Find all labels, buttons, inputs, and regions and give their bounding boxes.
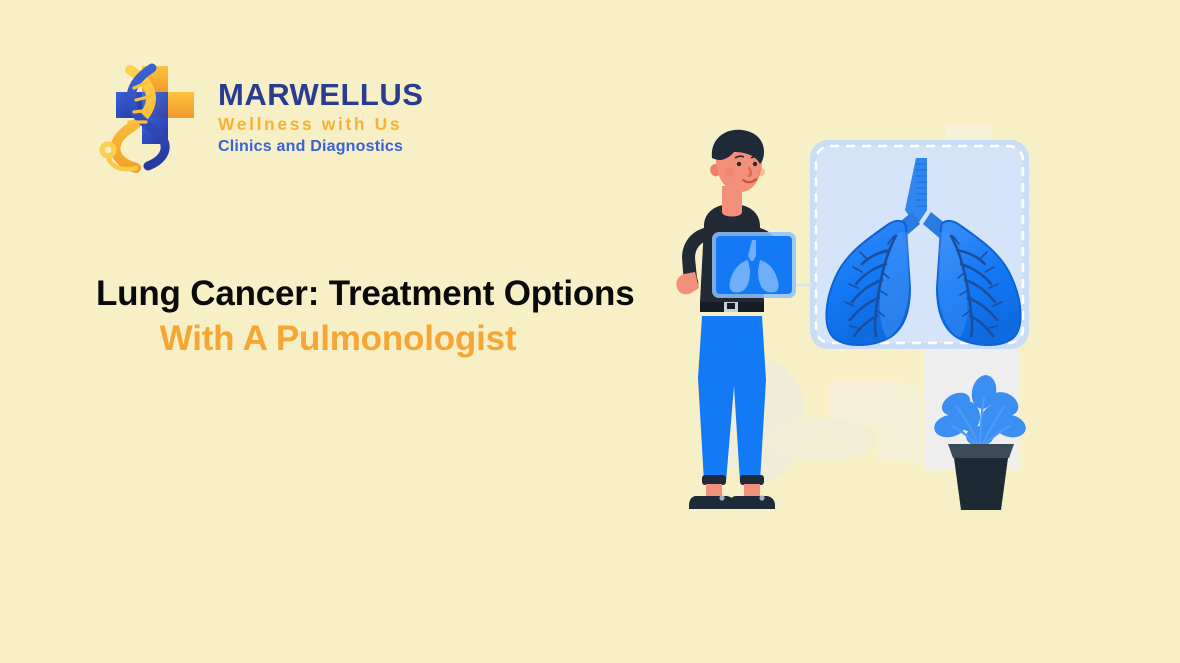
hand-left	[676, 272, 699, 294]
eye-left	[737, 162, 741, 166]
brand-tagline: Wellness with Us	[218, 114, 423, 136]
lung-diagram-panel	[810, 140, 1029, 349]
brand-logo[interactable]: MARWELLUS Wellness with Us Clinics and D…	[96, 58, 423, 173]
pot-rim	[948, 444, 1014, 458]
shoe-right	[729, 496, 775, 509]
brand-subtitle: Clinics and Diagnostics	[218, 137, 423, 156]
headline-block: Lung Cancer: Treatment Options With A Pu…	[96, 272, 656, 362]
brand-logo-text: MARWELLUS Wellness with Us Clinics and D…	[218, 75, 423, 156]
eye-right	[753, 162, 757, 166]
headline-primary: Lung Cancer: Treatment Options	[96, 272, 656, 317]
pulmonologist-illustration	[660, 120, 1080, 540]
headline-secondary: With A Pulmonologist	[96, 317, 656, 362]
medical-cross-dna-stethoscope-logo-icon	[96, 58, 208, 173]
banner-root: MARWELLUS Wellness with Us Clinics and D…	[0, 0, 1180, 663]
shoe-left	[689, 496, 735, 509]
xray-film	[712, 232, 796, 298]
brand-name: MARWELLUS	[218, 79, 423, 112]
pot-body	[954, 458, 1008, 510]
